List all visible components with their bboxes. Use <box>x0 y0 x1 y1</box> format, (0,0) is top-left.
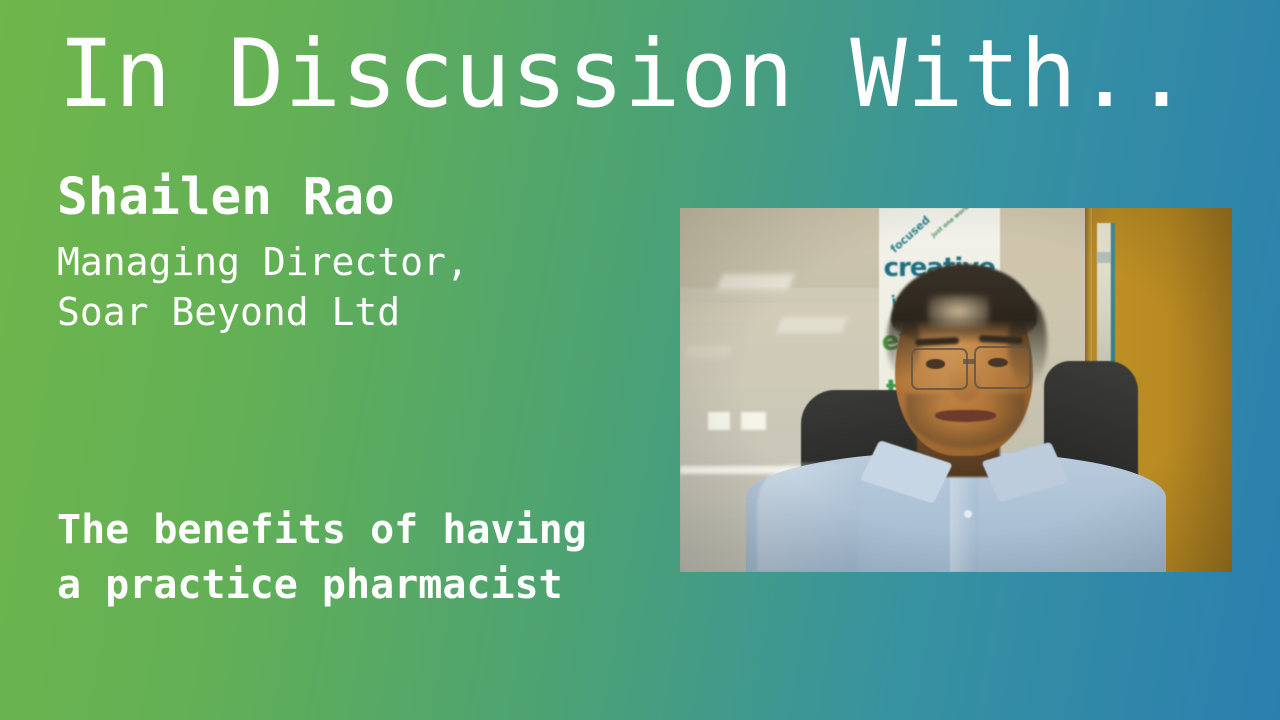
speaker-role: Managing Director, Soar Beyond Ltd <box>57 238 469 338</box>
episode-topic: The benefits of having a practice pharma… <box>57 503 587 613</box>
video-thumbnail[interactable]: focused just one word creative insight d… <box>680 208 1232 572</box>
page-title: In Discussion With.. <box>58 28 1190 122</box>
video-vignette <box>680 208 1232 572</box>
video-title-card: In Discussion With.. Shailen Rao Managin… <box>0 0 1280 720</box>
speaker-name: Shailen Rao <box>57 172 395 223</box>
